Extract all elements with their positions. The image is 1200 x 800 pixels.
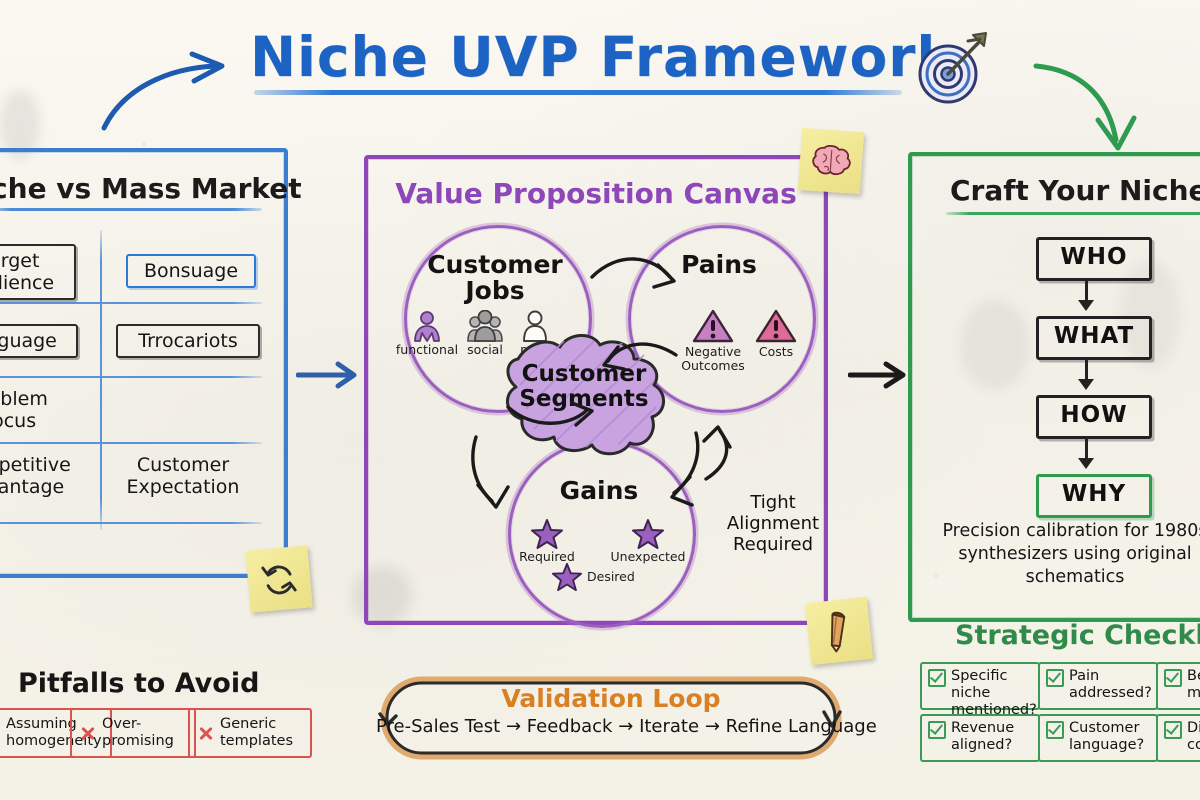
validation-loop-title: Validation Loop xyxy=(376,684,846,713)
target-icon xyxy=(910,28,994,112)
table-row-divider xyxy=(0,302,262,304)
checklist-item-label: Distinct fromcompetitors? xyxy=(1187,720,1200,754)
pitfalls-title-text: Pitfalls to Avoid xyxy=(18,668,259,699)
flow-step-what: WHAT xyxy=(1036,316,1152,360)
table-row-divider xyxy=(0,442,262,444)
table-cell-mass: CustomerExpectation xyxy=(108,454,258,498)
checklist-item-label: Revenuealigned? xyxy=(951,720,1014,754)
checklist-item-label: Painaddressed? xyxy=(1069,668,1152,702)
refresh-cycle-icon xyxy=(258,558,299,599)
cell-text: Bonsuage xyxy=(144,260,238,282)
example-text: Precision calibration for 1980s synthesi… xyxy=(942,521,1200,587)
cell-text: TargetAudience xyxy=(0,250,54,294)
outro-arrow xyxy=(1030,48,1160,158)
left-panel-title-rule xyxy=(0,208,262,211)
cell-text: Language xyxy=(0,330,57,352)
cell-text: Trrocariots xyxy=(138,330,237,352)
x-mark-icon xyxy=(79,725,96,742)
loop-step-separator: → xyxy=(506,716,521,737)
x-mark-icon xyxy=(197,725,214,742)
table-cell-niche: TargetAudience xyxy=(0,244,76,300)
checklist-item-label: Specific nichementioned? xyxy=(951,668,1037,719)
left-panel-niche-vs-mass-market: Niche vs Mass Market TargetAudience Bons… xyxy=(0,148,288,578)
sticky-note-pencil[interactable] xyxy=(805,597,873,665)
validation-loop: Validation Loop Pre-Sales Test → Feedbac… xyxy=(376,672,846,764)
uvp-example-text: Precision calibration for 1980s synthesi… xyxy=(925,520,1200,589)
right-panel-title-rule xyxy=(946,212,1200,215)
checklist-item-label: Customerlanguage? xyxy=(1069,720,1144,754)
cell-text: CustomerExpectation xyxy=(127,454,240,498)
flow-arrows-canvas xyxy=(380,215,830,615)
flow-arrowhead-icon xyxy=(1078,300,1094,311)
table-row-divider xyxy=(0,376,262,378)
intro-arrow xyxy=(96,44,246,134)
table-cell-mass: Trrocariots xyxy=(116,324,260,358)
checkbox-icon[interactable] xyxy=(1046,721,1064,739)
left-panel-title: Niche vs Mass Market xyxy=(0,172,288,205)
page-title: Niche UVP Framework xyxy=(250,22,950,118)
loop-step: Refine Language xyxy=(726,717,877,737)
pencil-icon xyxy=(820,608,858,653)
flow-arrowhead-icon xyxy=(1078,379,1094,390)
pitfall-label: Over-promising xyxy=(102,716,187,750)
brain-icon xyxy=(810,143,852,180)
checkbox-icon[interactable] xyxy=(1046,669,1064,687)
table-cell-niche: CompetitiveAdvantage xyxy=(0,454,88,498)
checkbox-icon[interactable] xyxy=(928,721,946,739)
checklist-item[interactable]: Customerlanguage? xyxy=(1038,714,1158,762)
checklist-item-label: Benefitmeasurable? xyxy=(1187,668,1200,702)
table-column-divider xyxy=(100,230,102,530)
flow-step-why: WHY xyxy=(1036,474,1152,518)
checklist-item[interactable]: Specific nichementioned? xyxy=(920,662,1040,710)
table-cell-mass: Bonsuage xyxy=(126,254,256,288)
main-title-text: Niche UVP Framework xyxy=(250,22,950,92)
tight-alignment-annotation: TightAlignmentRequired xyxy=(718,492,828,555)
center-panel-title: Value Proposition Canvas xyxy=(364,177,828,210)
checklist-item[interactable]: Distinct fromcompetitors? xyxy=(1156,714,1200,762)
arrow-left-to-center xyxy=(296,356,366,394)
table-cell-niche: Language xyxy=(0,324,78,358)
flow-step-label: WHAT xyxy=(1054,323,1134,349)
cell-text: CompetitiveAdvantage xyxy=(0,454,71,498)
checklist-item[interactable]: Benefitmeasurable? xyxy=(1156,662,1200,710)
flow-step-who: WHO xyxy=(1036,237,1152,281)
right-panel-title: Craft Your Niche UVP xyxy=(950,174,1200,207)
loop-step: Pre-Sales Test xyxy=(376,716,500,737)
loop-title-text: Validation Loop xyxy=(501,684,720,713)
loop-step: Feedback xyxy=(527,716,613,737)
checklist-item[interactable]: Painaddressed? xyxy=(1038,662,1158,710)
loop-step: Iterate xyxy=(639,716,699,737)
flow-arrowhead-icon xyxy=(1078,458,1094,469)
validation-loop-steps: Pre-Sales Test → Feedback → Iterate → Re… xyxy=(376,716,846,737)
checkbox-icon[interactable] xyxy=(1164,721,1182,739)
flow-step-how: HOW xyxy=(1036,395,1152,439)
comparison-table: TargetAudience Bonsuage Language Trrocar… xyxy=(0,230,288,530)
pitfall-label: Generictemplates xyxy=(220,716,293,750)
sticky-note-brain[interactable] xyxy=(798,128,864,194)
annotation-text: TightAlignmentRequired xyxy=(727,492,819,555)
table-cell-niche: ProblemFocus xyxy=(0,388,74,432)
sticky-note-refresh[interactable] xyxy=(245,545,312,612)
table-row-divider xyxy=(0,522,262,524)
pitfalls-title: Pitfalls to Avoid xyxy=(18,668,259,699)
checkbox-icon[interactable] xyxy=(928,669,946,687)
checklist-title: Strategic Checklist xyxy=(955,620,1200,651)
checkbox-icon[interactable] xyxy=(1164,669,1182,687)
loop-step-separator: → xyxy=(705,716,720,737)
checklist-title-text: Strategic Checklist xyxy=(955,620,1200,651)
flow-step-label: WHY xyxy=(1062,481,1126,507)
loop-step-separator: → xyxy=(618,716,633,737)
pitfall-item: Over-promising xyxy=(70,708,196,758)
arrow-center-to-right xyxy=(848,356,912,394)
cell-text: ProblemFocus xyxy=(0,388,48,432)
flow-step-label: WHO xyxy=(1060,244,1127,270)
checklist-item[interactable]: Revenuealigned? xyxy=(920,714,1040,762)
flow-step-label: HOW xyxy=(1060,402,1127,428)
pitfall-item: Generictemplates xyxy=(188,708,312,758)
